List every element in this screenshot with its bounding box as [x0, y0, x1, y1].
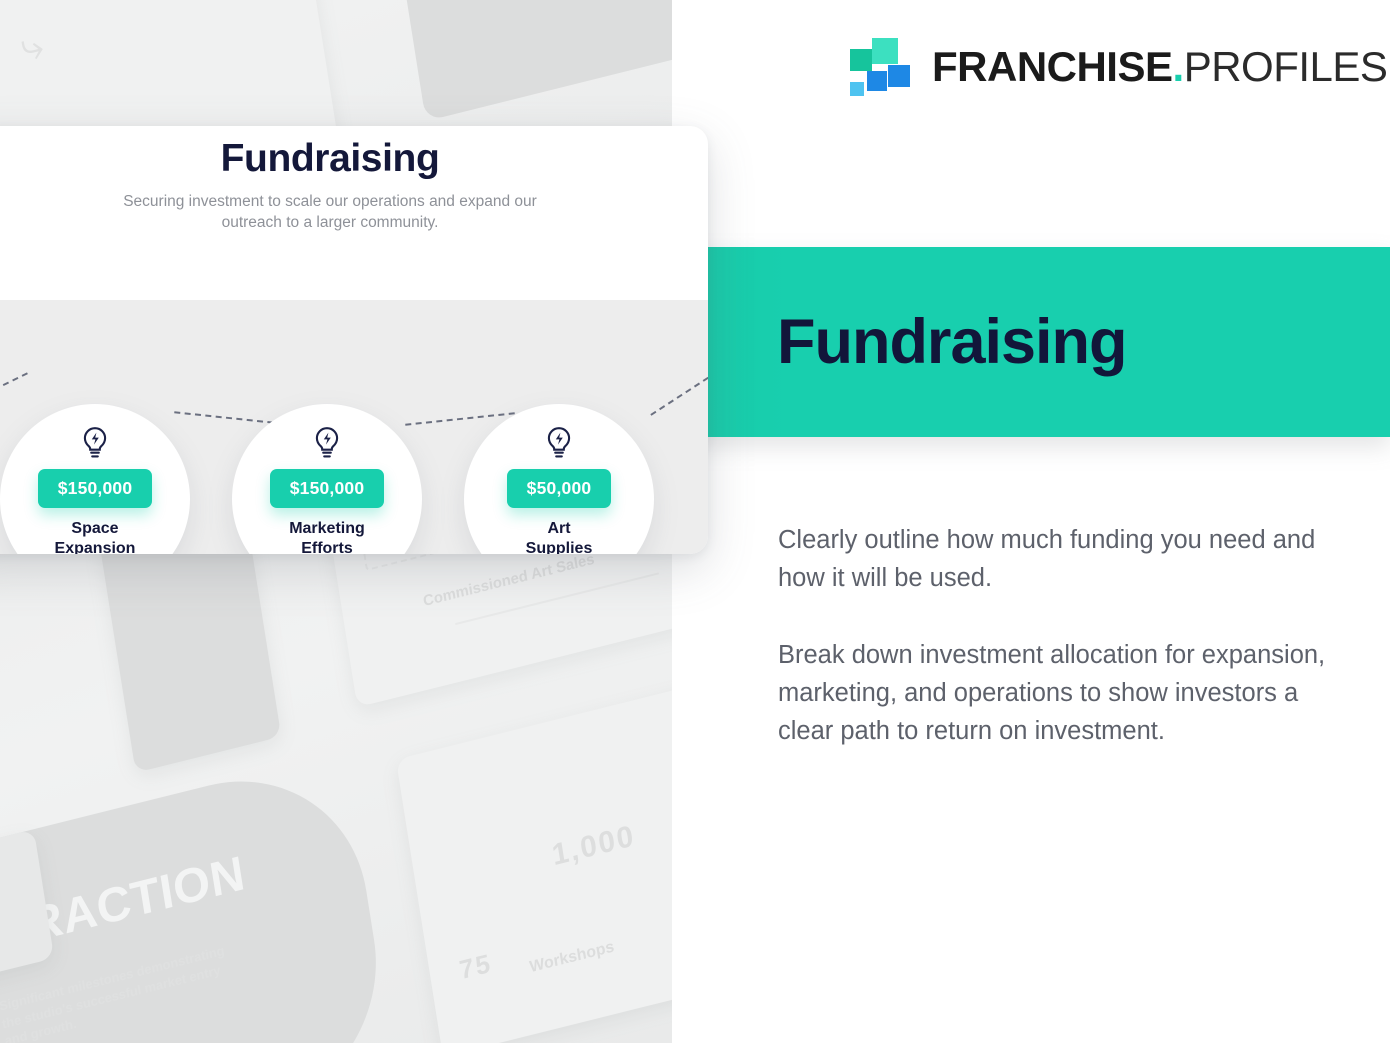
logo-word-franchise: FRANCHISE: [932, 43, 1173, 90]
fund-item-1-label: Space Expansion: [55, 519, 136, 554]
slide-page: KET ces in urban and is substantial ⤷ TH…: [0, 0, 1390, 1043]
body-paragraph-2: Break down investment allocation for exp…: [778, 636, 1356, 751]
logo-square-blue-right: [888, 65, 910, 87]
fund-item-2-label: Marketing Efforts: [289, 519, 365, 554]
fund-item-3-label: Art Supplies: [526, 519, 593, 554]
section-banner: Fundraising: [672, 247, 1390, 437]
logo-dot: .: [1173, 43, 1184, 90]
fund-item-1-amount: $150,000: [38, 469, 153, 508]
body-paragraph-1: Clearly outline how much funding you nee…: [778, 521, 1356, 598]
logo-square-teal-large: [872, 38, 898, 64]
fund-item-3[interactable]: $50,000 Art Supplies: [464, 404, 654, 554]
fund-item-2[interactable]: $150,000 Marketing Efforts: [232, 404, 422, 554]
fund-item-2-amount: $150,000: [270, 469, 385, 508]
deck-slide-problem: [376, 0, 672, 121]
card-title: Fundraising: [0, 138, 708, 181]
logo-square-lightblue: [850, 82, 864, 96]
logo-wordmark: FRANCHISE.PROFILES: [932, 43, 1387, 91]
logo-square-blue-mid: [867, 71, 887, 91]
body-copy: Clearly outline how much funding you nee…: [778, 521, 1356, 750]
logo-word-profiles: PROFILES: [1184, 43, 1388, 90]
franchise-profiles-logo: FRANCHISE.PROFILES: [850, 38, 1387, 96]
logo-square-green: [850, 49, 872, 71]
card-subtitle: Securing investment to scale our operati…: [105, 191, 555, 234]
banner-title: Fundraising: [777, 306, 1127, 378]
logo-mark-icon: [850, 38, 910, 96]
card-header: Fundraising Securing investment to scale…: [0, 126, 708, 234]
lightbulb-bolt-icon: [312, 426, 342, 460]
lightbulb-bolt-icon: [80, 426, 110, 460]
fundraising-card: Fundraising Securing investment to scale…: [0, 126, 708, 554]
fund-item-1[interactable]: $150,000 Space Expansion: [0, 404, 190, 554]
fund-item-3-amount: $50,000: [507, 469, 612, 508]
lightbulb-bolt-icon: [544, 426, 574, 460]
